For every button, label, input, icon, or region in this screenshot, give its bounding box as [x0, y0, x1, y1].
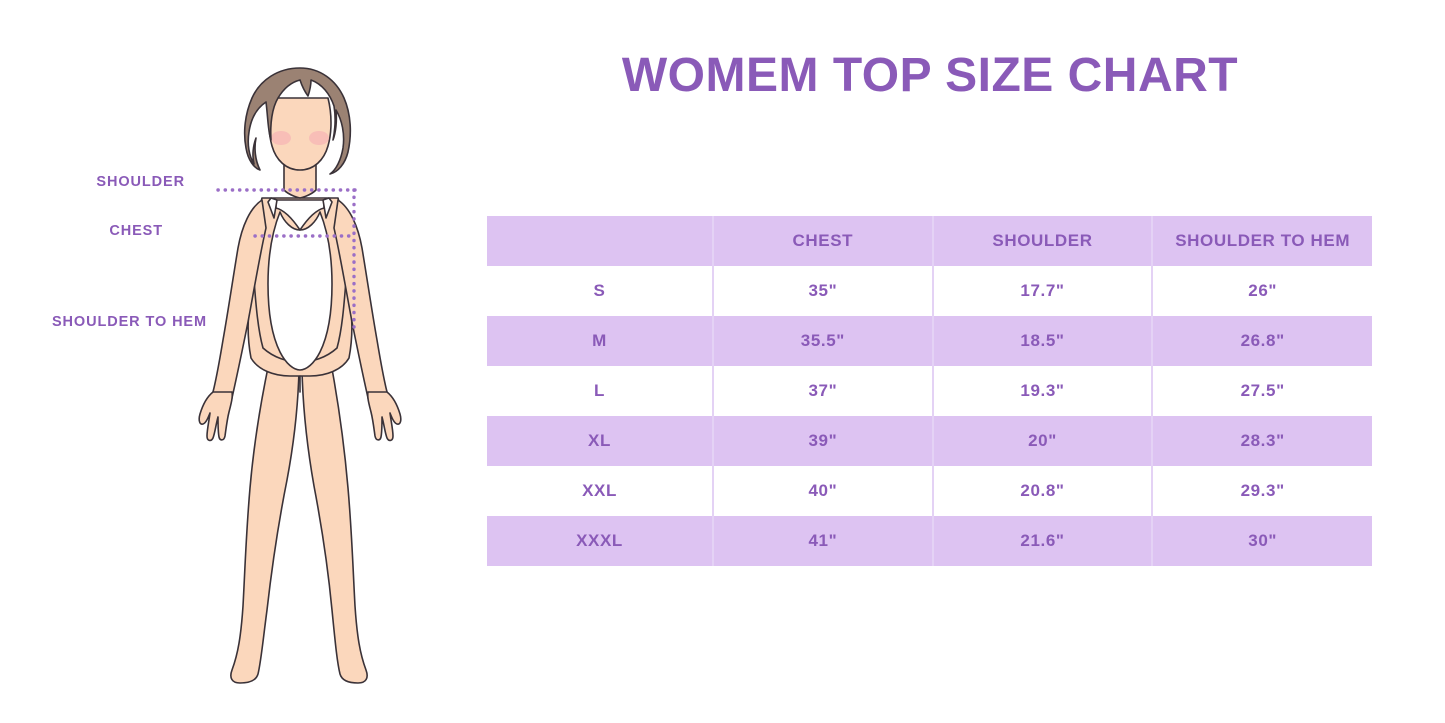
column-header-shoulder: SHOULDER	[933, 216, 1153, 266]
chest-cell: 35.5"	[713, 316, 933, 366]
body-figure-illustration	[150, 40, 450, 690]
table-row: XXXL41"21.6"30"	[487, 516, 1372, 566]
shoulder-cell: 20.8"	[933, 466, 1153, 516]
table-row: S35"17.7"26"	[487, 266, 1372, 316]
shoulder-to-hem-cell: 26.8"	[1152, 316, 1372, 366]
shoulder-to-hem-cell: 26"	[1152, 266, 1372, 316]
shoulder-cell: 17.7"	[933, 266, 1153, 316]
chest-cell: 41"	[713, 516, 933, 566]
size-cell: XXXL	[487, 516, 713, 566]
table-body: S35"17.7"26"M35.5"18.5"26.8"L37"19.3"27.…	[487, 266, 1372, 566]
left-hand-shape	[199, 392, 232, 440]
table-row: M35.5"18.5"26.8"	[487, 316, 1372, 366]
measurement-label-chest: CHEST	[0, 223, 163, 239]
shoulder-to-hem-cell: 28.3"	[1152, 416, 1372, 466]
table-row: XXL40"20.8"29.3"	[487, 466, 1372, 516]
size-cell: L	[487, 366, 713, 416]
measurement-label-shoulder-to-hem: SHOULDER TO HEM	[0, 314, 207, 330]
chest-cell: 40"	[713, 466, 933, 516]
right-hand-shape	[368, 392, 401, 440]
column-header-shoulder-to-hem: SHOULDER TO HEM	[1152, 216, 1372, 266]
size-cell: XL	[487, 416, 713, 466]
left-cheek-blush	[271, 131, 291, 145]
right-cheek-blush	[309, 131, 329, 145]
chest-cell: 39"	[713, 416, 933, 466]
table-row: XL39"20"28.3"	[487, 416, 1372, 466]
size-cell: S	[487, 266, 713, 316]
shoulder-to-hem-cell: 29.3"	[1152, 466, 1372, 516]
chest-cell: 35"	[713, 266, 933, 316]
shoulder-cell: 21.6"	[933, 516, 1153, 566]
female-body-figure-svg	[150, 40, 450, 690]
shoulder-cell: 19.3"	[933, 366, 1153, 416]
size-cell: M	[487, 316, 713, 366]
shoulder-to-hem-cell: 27.5"	[1152, 366, 1372, 416]
column-header-chest: CHEST	[713, 216, 933, 266]
right-leg-shape	[302, 358, 367, 683]
shoulder-cell: 20"	[933, 416, 1153, 466]
size-cell: XXL	[487, 466, 713, 516]
left-leg-shape	[231, 358, 299, 683]
chest-cell: 37"	[713, 366, 933, 416]
shoulder-cell: 18.5"	[933, 316, 1153, 366]
measurement-label-shoulder: SHOULDER	[0, 174, 185, 190]
table-row: L37"19.3"27.5"	[487, 366, 1372, 416]
shoulder-to-hem-cell: 30"	[1152, 516, 1372, 566]
table-header-row: CHEST SHOULDER SHOULDER TO HEM	[487, 216, 1372, 266]
page-title: WOMEM TOP SIZE CHART	[470, 48, 1390, 103]
column-header-size	[487, 216, 713, 266]
table-header: CHEST SHOULDER SHOULDER TO HEM	[487, 216, 1372, 266]
size-chart-table: CHEST SHOULDER SHOULDER TO HEM S35"17.7"…	[487, 216, 1372, 566]
